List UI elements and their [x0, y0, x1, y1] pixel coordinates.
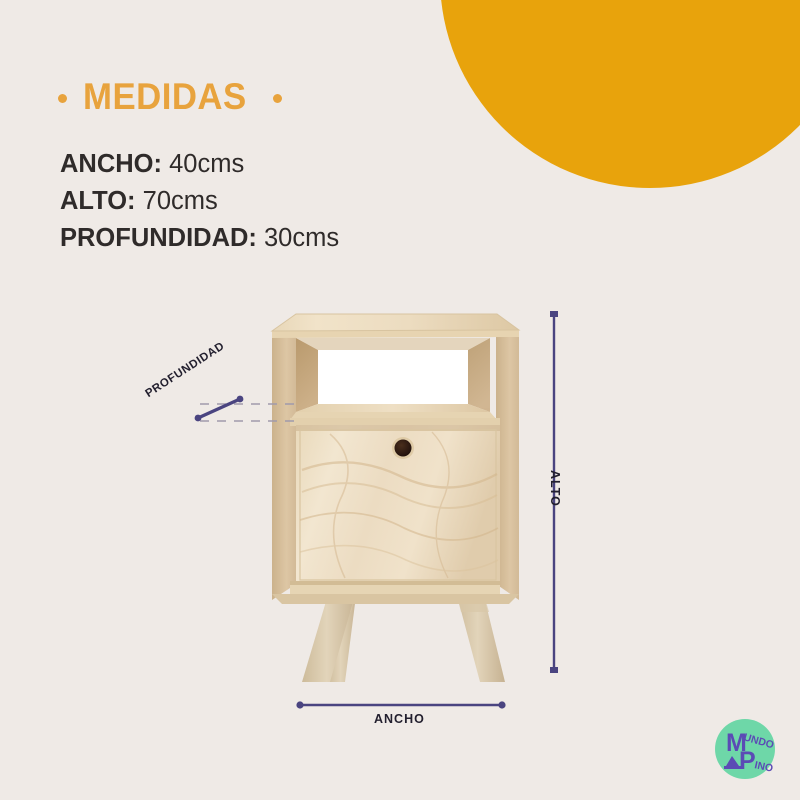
- specs-list: ANCHO: 40cms ALTO: 70cms PROFUNDIDAD: 30…: [60, 146, 339, 257]
- width-dimension-line: [296, 701, 505, 708]
- spec-value-ancho: 40cms: [169, 150, 244, 178]
- spec-row-alto: ALTO: 70cms: [60, 183, 339, 220]
- spec-key-ancho: ANCHO:: [60, 150, 162, 178]
- spec-value-profundidad: 30cms: [264, 224, 339, 252]
- bullet-right-icon: [273, 94, 282, 103]
- spec-row-ancho: ANCHO: 40cms: [60, 146, 339, 183]
- page-title: MEDIDAS: [58, 76, 282, 118]
- depth-dimension-arrow: [195, 396, 244, 422]
- spec-row-profundidad: PROFUNDIDAD: 30cms: [60, 220, 339, 257]
- label-ancho: ANCHO: [374, 712, 425, 726]
- spec-key-alto: ALTO:: [60, 187, 136, 215]
- label-alto: ALTO: [548, 470, 562, 507]
- brand-logo: M UNDO P INO: [712, 716, 778, 782]
- bullet-left-icon: [58, 94, 67, 103]
- furniture-body: [272, 314, 519, 604]
- spec-value-alto: 70cms: [143, 187, 218, 215]
- spec-key-profundidad: PROFUNDIDAD:: [60, 224, 257, 252]
- page-title-text: MEDIDAS: [83, 76, 247, 118]
- product-illustration: [0, 0, 800, 800]
